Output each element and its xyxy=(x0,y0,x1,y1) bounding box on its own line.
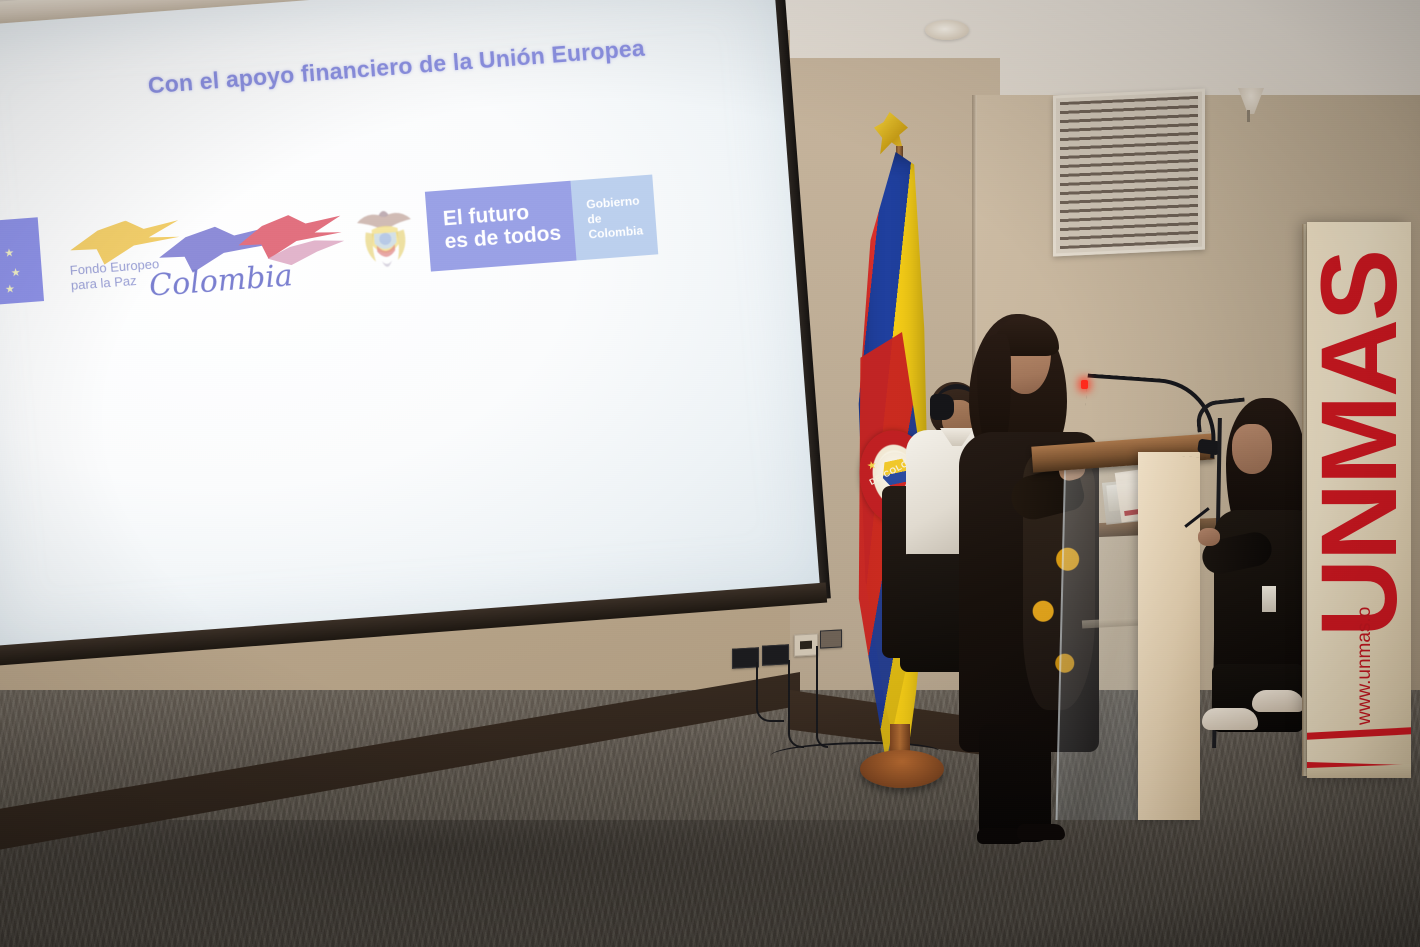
gobierno-slogan-block: El futuroes de todos xyxy=(425,181,577,272)
gobierno-slogan: El futuroes de todos xyxy=(442,199,562,254)
microphone-led-indicator xyxy=(1081,380,1088,389)
gobierno-entity-line-1: Gobierno xyxy=(586,193,640,211)
woman-hand xyxy=(1198,528,1220,546)
eu-flag-field: ★ ★ ★ ★ ★ ★ ★ ★ ★ ★ ★ ★ xyxy=(0,217,44,310)
power-cable xyxy=(756,662,784,722)
eu-star-icon: ★ xyxy=(5,285,15,295)
gobierno-de-colombia-logo: El futuroes de todos Gobiernode Colombia xyxy=(347,175,653,289)
recessed-ceiling-light-icon xyxy=(925,20,969,40)
seated-woman-taking-notes xyxy=(1196,398,1316,744)
air-vent-slats xyxy=(1060,96,1198,249)
power-cable xyxy=(788,660,804,748)
flag-emblem-star-icon: ★ xyxy=(866,458,878,473)
air-vent-icon xyxy=(1053,89,1205,257)
banner-stripe xyxy=(1307,727,1411,739)
eu-star-icon: ★ xyxy=(11,269,21,279)
presentation-slide: Con el apoyo financiero de la Unión Euro… xyxy=(0,0,823,654)
gobierno-logo-bar: El futuroes de todos Gobiernode Colombia xyxy=(425,175,658,272)
projection-screen: Con el apoyo financiero de la Unión Euro… xyxy=(0,0,862,706)
headphone-earcup-icon xyxy=(930,394,954,420)
woman-badge xyxy=(1262,586,1276,612)
fondo-europeo-paz-logo: Fondo Europeo para la Paz Colombia xyxy=(68,196,326,325)
slide-title: Con el apoyo financiero de la Unión Euro… xyxy=(147,33,668,99)
gobierno-entity: Gobiernode Colombia xyxy=(586,192,657,242)
woman-face xyxy=(1232,424,1272,474)
woman-sneaker xyxy=(1252,690,1304,712)
eu-star-icon: ★ xyxy=(4,249,14,259)
eu-flag-logo: ★ ★ ★ ★ ★ ★ ★ ★ ★ ★ ★ ★ UROPEA xyxy=(0,216,61,344)
unmas-url: www.unmas.o xyxy=(1354,525,1376,725)
woman-sneaker xyxy=(1202,708,1258,730)
colombia-coat-of-arms-icon xyxy=(348,198,424,283)
gobierno-entity-line-2: de Colombia xyxy=(587,211,644,241)
power-cable xyxy=(816,646,828,748)
unmas-rollup-banner: UNMAS www.unmas.o xyxy=(1307,222,1411,778)
flag-base xyxy=(860,750,944,788)
podium-front-panel xyxy=(1138,452,1200,820)
speaker-shoe xyxy=(1017,824,1065,840)
conference-room-photo: Con el apoyo financiero de la Unión Euro… xyxy=(0,0,1420,947)
floor-shadow xyxy=(0,820,1420,947)
wall-outlet xyxy=(732,647,759,668)
eu-logo-caption: UROPEA xyxy=(0,308,64,337)
ceiling-fixture-stem xyxy=(1247,110,1250,122)
gobierno-entity-block: Gobiernode Colombia xyxy=(570,175,658,261)
